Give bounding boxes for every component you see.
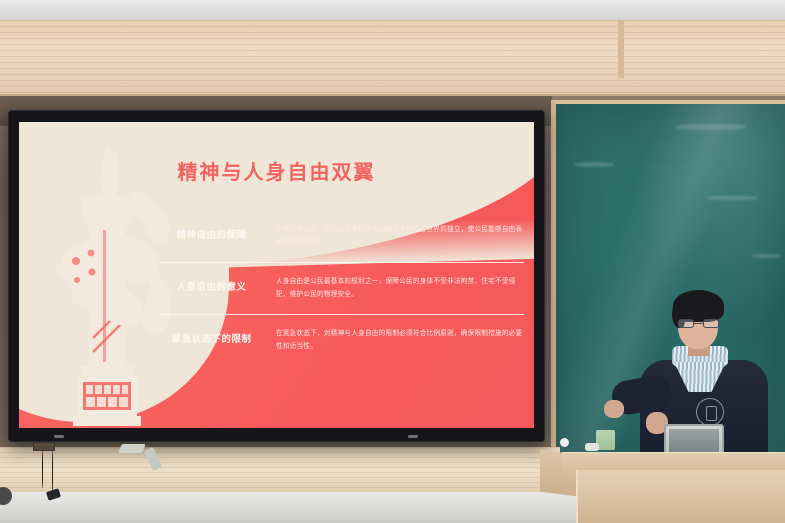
content-row: 人身自由的意义 人身自由是公民最基本的权利之一，保障公民的身体不受非法拘禁、住宅… bbox=[159, 262, 524, 314]
glasses-lens-left bbox=[678, 319, 694, 328]
row-body: 在紧急状态下，对精神与人身自由的限制必须符合比例原则，确保限制措施的必要性和适当… bbox=[264, 328, 524, 352]
row-body: 人身自由是公民最基本的权利之一，保障公民的身体不受非法拘禁、住宅不受侵犯，维护公… bbox=[264, 276, 524, 300]
display-mount-bracket bbox=[118, 444, 146, 453]
row-label: 人身自由的意义 bbox=[159, 281, 264, 295]
classroom-scene: 精神与人身自由双翼 bbox=[0, 0, 785, 523]
lectern-monitor-screen bbox=[669, 429, 719, 452]
glasses-lens-right bbox=[703, 319, 719, 328]
content-row: 精神自由的保障 宗教信仰自由、通信秘密等精神自由确保个体内心世界的独立，使公民能… bbox=[159, 210, 524, 262]
chalk-smudge bbox=[676, 124, 746, 130]
upper-wood-panel bbox=[0, 20, 785, 96]
ir-sensor-icon bbox=[54, 435, 64, 438]
row-label: 紧急状态下的限制 bbox=[159, 333, 264, 347]
chalk-smudge bbox=[574, 162, 614, 167]
row-label: 精神自由的保障 bbox=[159, 229, 264, 243]
floor-ledge bbox=[0, 492, 600, 523]
presenter-hand-left bbox=[604, 400, 624, 418]
ceiling-strip bbox=[0, 0, 785, 22]
wood-panel-seam bbox=[618, 20, 624, 78]
chalk-smudge bbox=[752, 254, 782, 258]
school-emblem-icon bbox=[696, 398, 724, 426]
desk-item-small bbox=[585, 443, 599, 451]
status-led-icon bbox=[408, 435, 418, 438]
lower-wood-panel bbox=[0, 447, 560, 495]
content-row: 紧急状态下的限制 在紧急状态下，对精神与人身自由的限制必须符合比例原则，确保限制… bbox=[159, 314, 524, 366]
chalk-smudge bbox=[706, 196, 758, 200]
presentation-slide: 精神与人身自由双翼 bbox=[19, 122, 534, 428]
display-screen: 精神与人身自由双翼 bbox=[19, 122, 534, 428]
lectern-front-panel bbox=[576, 470, 785, 523]
wall-mounted-display[interactable]: 精神与人身自由双翼 bbox=[8, 110, 545, 442]
signal-cable bbox=[52, 450, 53, 494]
desk-item-round bbox=[560, 438, 569, 447]
row-body: 宗教信仰自由、通信秘密等精神自由确保个体内心世界的独立，使公民能够自由表达思想和… bbox=[264, 224, 524, 248]
slide-content-rows: 精神自由的保障 宗教信仰自由、通信秘密等精神自由确保个体内心世界的独立，使公民能… bbox=[159, 210, 524, 366]
glasses-icon bbox=[678, 319, 719, 328]
lectern-top bbox=[562, 452, 785, 472]
